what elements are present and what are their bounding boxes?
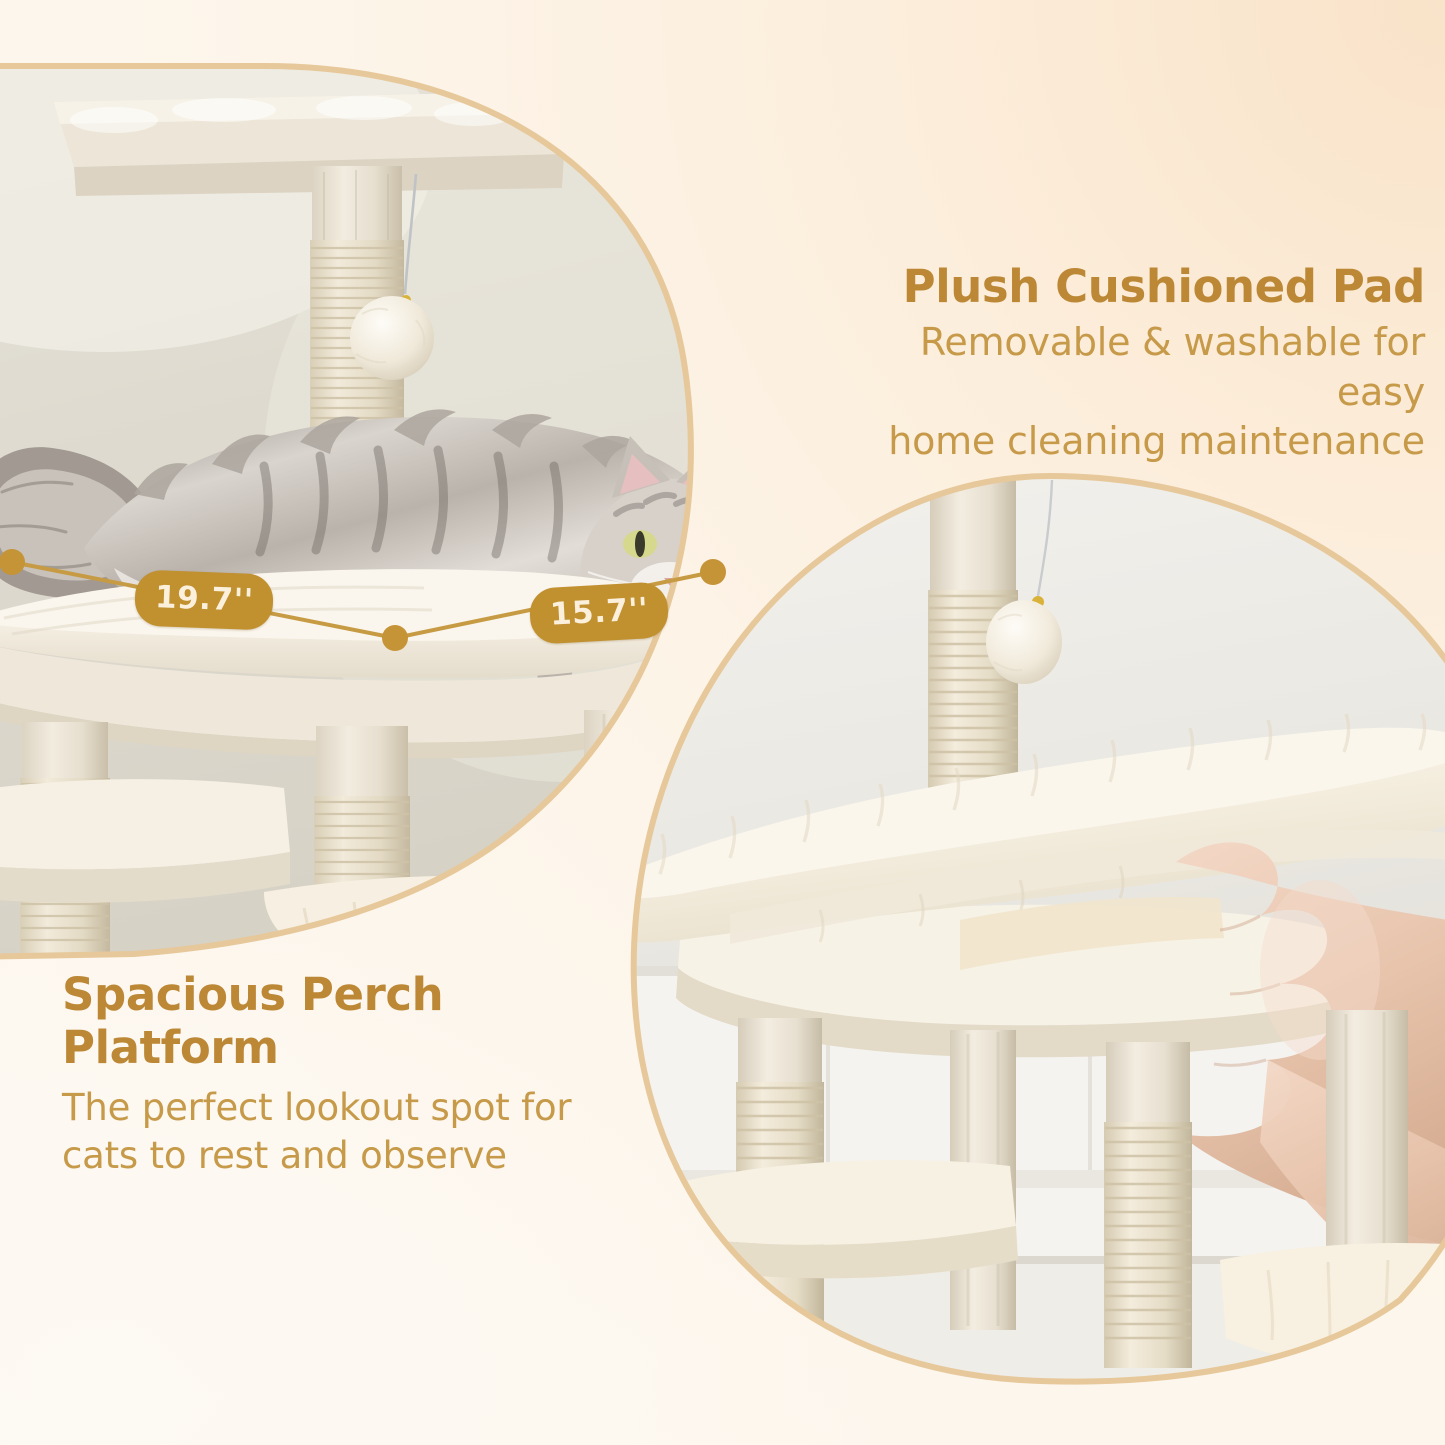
feature-body-line: home cleaning maintenance [855,417,1425,466]
dimension-vertex [382,625,408,651]
feature-body-line: cats to rest and observe [62,1132,622,1180]
dimension-badge-depth: 19.7'' [134,569,275,630]
dimension-endpoint-left [0,549,25,575]
feature-body-line: Removable & washable for [855,318,1425,367]
feature-heading-plush-cushioned-pad: Plush Cushioned Pad [855,262,1425,312]
photo-hand-lifting-pad-illustration [620,470,1445,1390]
pompom-toy-right [986,600,1062,684]
feature-body-line: easy [855,368,1425,417]
infographic-canvas: 19.7'' 15.7'' Plush Cushioned Pad Remova… [0,0,1445,1445]
pompom-toy-left [350,296,434,380]
feature-body-plush-cushioned-pad: Removable & washable for easy home clean… [855,318,1425,466]
feature-heading-line: Platform [62,1021,622,1074]
feature-heading-spacious-perch-platform: Spacious Perch Platform [62,968,622,1074]
feature-body-line: The perfect lookout spot for [62,1084,622,1132]
feature-body-spacious-perch-platform: The perfect lookout spot for cats to res… [62,1084,622,1180]
feature-spacious-perch-platform: Spacious Perch Platform The perfect look… [62,968,622,1180]
photo-hand-lifting-pad [620,470,1445,1390]
feature-heading-line: Spacious Perch [62,968,622,1021]
feature-plush-cushioned-pad: Plush Cushioned Pad Removable & washable… [855,262,1425,467]
